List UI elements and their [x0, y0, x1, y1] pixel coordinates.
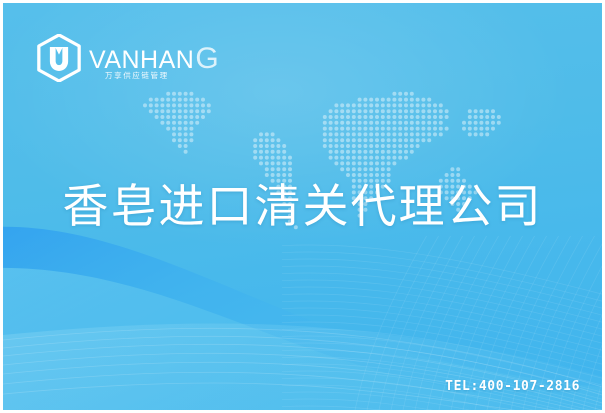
- promo-banner: VANHANG 万享供应链管理 香皂进口清关代理公司 TEL:400-107-2…: [0, 0, 605, 413]
- brand-logo[interactable]: VANHANG 万享供应链管理: [36, 34, 219, 82]
- page-title: 香皂进口清关代理公司: [3, 181, 602, 232]
- telephone-label: TEL:400-107-2816: [445, 379, 580, 394]
- vanhang-hexagon-icon: [36, 34, 82, 82]
- logo-subtitle: 万享供应链管理: [105, 70, 169, 81]
- logo-text-block: VANHANG 万享供应链管理: [89, 34, 219, 82]
- logo-wordmark-accent: G: [195, 44, 219, 74]
